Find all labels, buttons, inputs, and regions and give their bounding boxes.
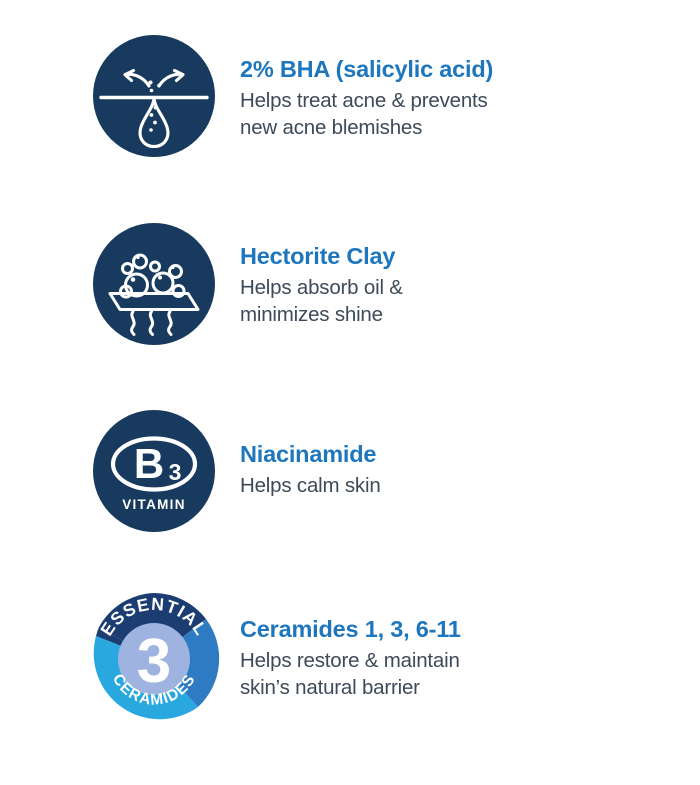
ingredient-row: ESSENTIAL CERAMIDES 3 Ceramides 1, 3, 6-… xyxy=(0,598,700,785)
ingredient-title: Niacinamide xyxy=(240,441,381,467)
vitamin-number: 3 xyxy=(169,459,182,485)
clay-oil-absorb-icon xyxy=(93,223,215,345)
description-line: minimizes shine xyxy=(240,301,403,328)
ingredient-row: 2% BHA (salicylic acid) Helps treat acne… xyxy=(0,35,700,223)
icon-container: ESSENTIAL CERAMIDES 3 xyxy=(86,591,222,727)
icon-container xyxy=(93,35,215,157)
ingredient-description: Helps restore & maintain skin’s natural … xyxy=(240,647,461,701)
essential-ceramides-badge-icon: ESSENTIAL CERAMIDES 3 xyxy=(86,591,222,727)
vitamin-b3-icon: B 3 VITAMIN xyxy=(93,410,215,532)
vitamin-label: VITAMIN xyxy=(122,497,186,512)
icon-container xyxy=(93,223,215,345)
ingredient-text: Hectorite Clay Helps absorb oil & minimi… xyxy=(215,223,403,328)
ingredient-text: Ceramides 1, 3, 6-11 Helps restore & mai… xyxy=(222,598,461,701)
ingredient-text: Niacinamide Helps calm skin xyxy=(215,410,381,499)
description-line: Helps absorb oil & xyxy=(240,274,403,301)
ingredients-panel: 2% BHA (salicylic acid) Helps treat acne… xyxy=(0,0,700,785)
pore-exfoliation-icon xyxy=(93,35,215,157)
ingredient-description: Helps treat acne & prevents new acne ble… xyxy=(240,87,493,141)
ingredient-description: Helps absorb oil & minimizes shine xyxy=(240,274,403,328)
ingredient-title: Ceramides 1, 3, 6-11 xyxy=(240,616,461,642)
vitamin-b3-glyph: B 3 VITAMIN xyxy=(93,410,215,532)
description-line: skin’s natural barrier xyxy=(240,674,461,701)
pore-exfoliation-glyph xyxy=(93,35,215,157)
ingredient-title: 2% BHA (salicylic acid) xyxy=(240,56,493,82)
description-line: new acne blemishes xyxy=(240,114,493,141)
badge-number: 3 xyxy=(137,627,171,696)
description-line: Helps restore & maintain xyxy=(240,647,461,674)
description-line: Helps calm skin xyxy=(240,472,381,499)
ingredient-title: Hectorite Clay xyxy=(240,243,403,269)
clay-oil-absorb-glyph xyxy=(93,223,215,345)
essential-ceramides-glyph: ESSENTIAL CERAMIDES 3 xyxy=(86,591,222,727)
ingredient-text: 2% BHA (salicylic acid) Helps treat acne… xyxy=(215,35,493,141)
ingredient-row: B 3 VITAMIN Niacinamide Helps calm skin xyxy=(0,410,700,598)
ingredient-row: Hectorite Clay Helps absorb oil & minimi… xyxy=(0,223,700,411)
description-line: Helps treat acne & prevents xyxy=(240,87,493,114)
ingredient-description: Helps calm skin xyxy=(240,472,381,499)
icon-container: B 3 VITAMIN xyxy=(93,410,215,532)
vitamin-letter: B xyxy=(134,440,164,487)
